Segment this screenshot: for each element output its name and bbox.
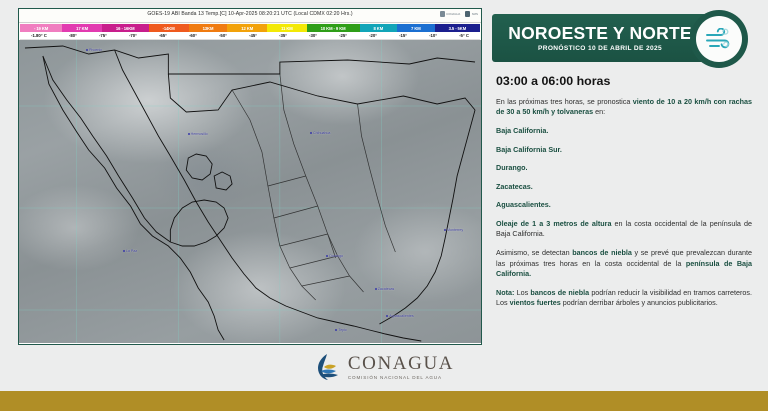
fog-highlight: bancos de niebla <box>572 248 632 257</box>
smn-mini-label: SMN <box>472 12 478 16</box>
color-scale-segment-10: 3.5 - 5KM <box>435 24 480 32</box>
region-title: NOROESTE Y NORTE <box>508 24 691 42</box>
map-city-monterrey: Monterrey <box>444 228 463 232</box>
conagua-mini-mark <box>440 11 445 17</box>
state-borders <box>232 74 395 300</box>
note-highlight-2: vientos fuertes <box>510 298 561 307</box>
affected-state-0: Baja California. <box>496 126 752 135</box>
color-scale-tick-11: -20° <box>358 32 388 39</box>
color-scale-segment-7: 10 KM - 9 KM <box>307 24 360 32</box>
color-scale-bar: - 19 KM17 KM16 - 16KM-14KM13KM12 KM11 KM… <box>20 24 480 32</box>
satellite-imagery: PhoenixHermosilloChihuahuaLa PazDurangoZ… <box>19 40 481 343</box>
color-scale-segment-0: - 19 KM <box>20 24 62 32</box>
satellite-corner-logos: CONAGUA SMN <box>440 11 478 17</box>
color-scale-tick-6: -50° <box>208 32 238 39</box>
city-marker-icon <box>444 229 446 231</box>
conagua-logo-name: CONAGUA <box>348 354 454 373</box>
smn-mini-logo: SMN <box>465 11 478 17</box>
city-marker-icon <box>386 315 388 317</box>
color-scale-tick-4: -65° <box>148 32 178 39</box>
color-scale-segment-1: 17 KM <box>62 24 102 32</box>
city-marker-icon <box>188 133 190 135</box>
note-a: Los <box>514 288 530 297</box>
forecast-body: En las próximas tres horas, se pronostic… <box>492 97 756 308</box>
color-scale-tick-3: -70° <box>118 32 148 39</box>
map-city-tepic: Tepic <box>335 328 346 332</box>
color-scale-segment-5: 12 KM <box>227 24 267 32</box>
city-marker-icon <box>375 288 377 290</box>
color-scale-tick-0: -1.80° C <box>20 32 58 39</box>
city-marker-icon <box>326 255 328 257</box>
color-scale-segment-3: -14KM <box>149 24 189 32</box>
color-scale-tick-8: -35° <box>268 32 298 39</box>
affected-state-3: Zacatecas. <box>496 182 752 191</box>
city-label: La Paz <box>126 249 137 253</box>
fog-prefix: Asimismo, se detectan <box>496 248 572 257</box>
note-highlight-1: bancos de niebla <box>530 288 589 297</box>
map-overlay <box>19 40 481 343</box>
color-scale-tick-13: -10° <box>418 32 448 39</box>
color-scale-tick-14: -5° C <box>448 32 480 39</box>
forecast-header-banner: NOROESTE Y NORTE PRONÓSTICO 10 DE ABRIL … <box>492 14 708 62</box>
map-city-zacatecas: Zacatecas <box>375 287 395 291</box>
color-scale-segment-8: 8 KM <box>360 24 398 32</box>
color-scale-segment-6: 11 KM <box>267 24 307 32</box>
city-marker-icon <box>310 132 312 134</box>
color-scale-tick-10: -25° <box>328 32 358 39</box>
city-label: Phoenix <box>89 48 102 52</box>
lat-lon-grid <box>19 40 481 343</box>
conagua-logo-tagline: COMISIÓN NACIONAL DEL AGUA <box>348 375 454 380</box>
bottom-gold-bar <box>0 391 768 411</box>
note-label: Nota: <box>496 288 514 297</box>
wind-badge <box>690 10 748 68</box>
city-label: Zacatecas <box>378 287 395 291</box>
forecast-header: NOROESTE Y NORTE PRONÓSTICO 10 DE ABRIL … <box>492 10 756 68</box>
city-label: Hermosillo <box>191 132 208 136</box>
forecast-time-range: 03:00 a 06:00 horas <box>496 74 756 88</box>
city-label: Monterrey <box>447 228 463 232</box>
conagua-logo: CONAGUA COMISIÓN NACIONAL DEL AGUA <box>314 352 454 382</box>
satellite-title: GOES-19 ABI Banda 13 Temp.[C] 10-Apr-202… <box>19 11 481 17</box>
map-city-la-paz: La Paz <box>123 249 137 253</box>
color-scale-tick-5: -60° <box>178 32 208 39</box>
map-city-aguascalientes: Aguascalientes <box>386 314 413 318</box>
conagua-wave-icon <box>314 352 342 382</box>
forecast-intro-paragraph: En las próximas tres horas, se pronostic… <box>496 97 752 117</box>
map-city-durango: Durango <box>326 254 343 258</box>
map-city-phoenix: Phoenix <box>86 48 102 52</box>
color-scale-segment-2: 16 - 16KM <box>102 24 149 32</box>
conagua-mini-logo: CONAGUA <box>440 11 461 17</box>
satellite-titlebar: GOES-19 ABI Banda 13 Temp.[C] 10-Apr-202… <box>19 9 481 23</box>
color-scale-tick-7: -45° <box>238 32 268 39</box>
city-label: Chihuahua <box>313 131 330 135</box>
forecast-panel: NOROESTE Y NORTE PRONÓSTICO 10 DE ABRIL … <box>492 10 756 317</box>
color-scale-segment-4: 13KM <box>189 24 228 32</box>
city-marker-icon <box>86 49 88 51</box>
forecast-subtitle: PRONÓSTICO 10 DE ABRIL DE 2025 <box>538 45 662 52</box>
swell-paragraph: Oleaje de 1 a 3 metros de altura en la c… <box>496 219 752 239</box>
satellite-panel: GOES-19 ABI Banda 13 Temp.[C] 10-Apr-202… <box>18 8 482 345</box>
smn-mini-mark <box>465 11 470 17</box>
swell-highlight: Oleaje de 1 a 3 metros de altura <box>496 219 611 228</box>
fog-paragraph: Asimismo, se detectan bancos de niebla y… <box>496 248 752 279</box>
note-paragraph: Nota: Los bancos de niebla podrían reduc… <box>496 288 752 308</box>
map-city-hermosillo: Hermosillo <box>188 132 208 136</box>
intro-suffix: en: <box>593 107 605 116</box>
affected-state-1: Baja California Sur. <box>496 145 752 154</box>
affected-state-2: Durango. <box>496 163 752 172</box>
coastlines-and-borders <box>25 46 475 341</box>
color-scale-tick-1: -80° <box>58 32 88 39</box>
city-label: Aguascalientes <box>389 314 413 318</box>
weather-bulletin-page: GOES-19 ABI Banda 13 Temp.[C] 10-Apr-202… <box>0 0 768 411</box>
color-scale-tick-9: -30° <box>298 32 328 39</box>
color-scale-tick-12: -15° <box>388 32 418 39</box>
footer: CONAGUA COMISIÓN NACIONAL DEL AGUA <box>0 344 768 390</box>
wind-badge-inner <box>696 16 742 62</box>
wind-icon <box>704 28 734 50</box>
conagua-mini-label: CONAGUA <box>446 12 460 16</box>
affected-state-4: Aguascalientes. <box>496 200 752 209</box>
intro-prefix: En las próximas tres horas, se pronostic… <box>496 97 633 106</box>
conagua-logo-text: CONAGUA COMISIÓN NACIONAL DEL AGUA <box>348 354 454 380</box>
map-city-chihuahua: Chihuahua <box>310 131 330 135</box>
color-scale-segment-9: 7 KM <box>397 24 435 32</box>
note-c: podrían derribar árboles y anuncios publ… <box>561 298 718 307</box>
temperature-color-scale: - 19 KM17 KM16 - 16KM-14KM13KM12 KM11 KM… <box>19 23 481 40</box>
city-marker-icon <box>123 250 125 252</box>
color-scale-ticks: -1.80° C-80°-75°-70°-65°-60°-50°-45°-35°… <box>20 32 480 40</box>
color-scale-tick-2: -75° <box>88 32 118 39</box>
city-label: Durango <box>329 254 343 258</box>
city-label: Tepic <box>338 328 346 332</box>
